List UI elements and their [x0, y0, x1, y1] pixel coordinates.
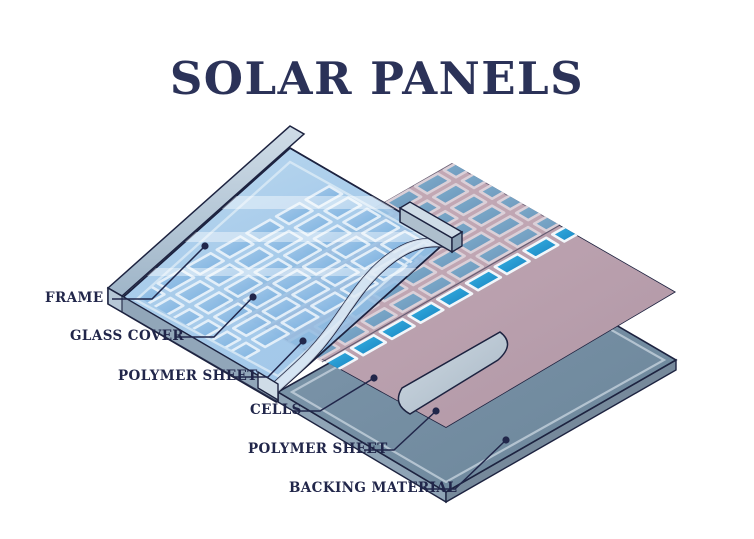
- leader-dot-cells: [370, 374, 377, 381]
- leader-dot-backing-material: [502, 436, 509, 443]
- label-frame: FRAME: [45, 292, 104, 306]
- label-cells: CELLS: [250, 404, 302, 418]
- leader-dot-glass-cover: [249, 293, 256, 300]
- leader-dot-polymer-sheet-bot: [432, 407, 439, 414]
- solar-panel-illustration: [0, 0, 754, 539]
- label-glass-cover: GLASS COVER: [70, 330, 184, 344]
- leader-dot-polymer-sheet-top: [299, 337, 306, 344]
- label-polymer-sheet-top: POLYMER SHEET: [118, 370, 258, 384]
- leader-dot-frame: [201, 242, 208, 249]
- label-polymer-sheet-bottom: POLYMER SHEET: [248, 443, 388, 457]
- label-backing-material: BACKING MATERIAL: [289, 482, 457, 496]
- diagram-canvas: SOLAR PANELS: [0, 0, 754, 539]
